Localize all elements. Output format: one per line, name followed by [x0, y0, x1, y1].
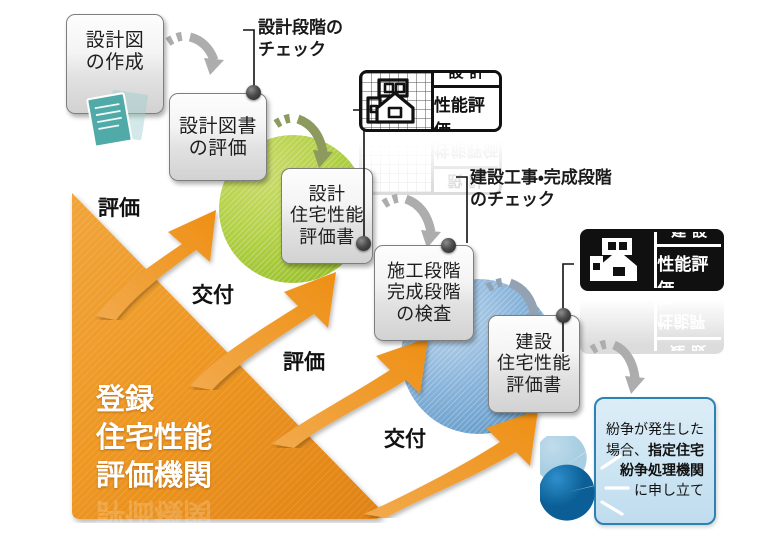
org-line-1: 登録: [96, 381, 154, 419]
step-design-doc-eval-line-2: の評価: [189, 137, 248, 159]
construction-badge-bottom: 性能評価: [657, 244, 721, 291]
callout-construction-stage-check: 建設工事・完成段階 のチェック: [470, 168, 612, 212]
callout-design-stage-check: 設計段階の チェック: [258, 18, 343, 62]
arrow-label-issue-2: 交付: [384, 423, 426, 453]
step-construction-inspection[interactable]: 施工段階 完成段階 の検査: [374, 245, 474, 341]
document-stack-icon: [75, 84, 155, 156]
construction-badge-top: 建設: [665, 229, 713, 244]
house-blueprint-icon: [362, 73, 431, 129]
callout-const-line-2: のチェック: [470, 190, 612, 212]
step-design-drawing-line-2: の作成: [86, 51, 145, 73]
step-construction-cert-line-1: 建設: [516, 332, 553, 353]
step-construction-cert-line-3: 評価書: [506, 375, 562, 396]
step-construction-cert-line-2: 住宅性能: [497, 353, 571, 374]
step-design-drawing-line-1: 設計図: [86, 29, 145, 51]
org-text-reflection: 評価機関: [96, 494, 212, 532]
knob-construction-badge: [556, 308, 571, 323]
step-design-doc-eval-line-1: 設計図書: [179, 115, 257, 137]
step-construction-insp-line-2: 完成段階: [387, 282, 461, 303]
step-design-cert-line-1: 設計: [309, 184, 346, 205]
org-line-3: 評価機関: [96, 457, 212, 495]
diagram-canvas: 登録 住宅性能 評価機関 評価機関 評価 交付 評価: [0, 0, 770, 538]
callout-design-line-1: 設計段階の: [258, 18, 343, 40]
arrow-label-eval-1: 評価: [98, 192, 140, 222]
design-performance-badge: 設計 性能評価: [359, 70, 502, 132]
leader-line-construction-check: [455, 175, 469, 245]
step-construction-insp-line-3: の検査: [396, 304, 452, 325]
step-design-cert-line-3: 評価書: [299, 227, 355, 248]
callout-const-line-1: 建設工事・完成段階: [470, 168, 612, 190]
house-solid-icon: [583, 232, 654, 288]
design-badge-top: 設計: [442, 70, 490, 85]
arrow-label-eval-2: 評価: [283, 346, 325, 376]
knob-design-badge: [356, 236, 371, 251]
callout-design-line-2: チェック: [258, 40, 343, 62]
org-line-2: 住宅性能: [96, 419, 212, 457]
knob-design-check: [246, 85, 261, 100]
knob-construction-check: [441, 238, 456, 253]
step-design-doc-eval[interactable]: 設計図書 の評価: [169, 93, 267, 181]
step-construction-insp-line-1: 施工段階: [387, 261, 461, 282]
flow-arrow-1: [160, 22, 230, 92]
conflict-burst-icon: [540, 436, 650, 536]
arrow-label-issue-1: 交付: [192, 279, 234, 309]
construction-performance-badge: 建設 性能評価: [580, 229, 724, 291]
design-badge-bottom: 性能評価: [434, 85, 499, 132]
